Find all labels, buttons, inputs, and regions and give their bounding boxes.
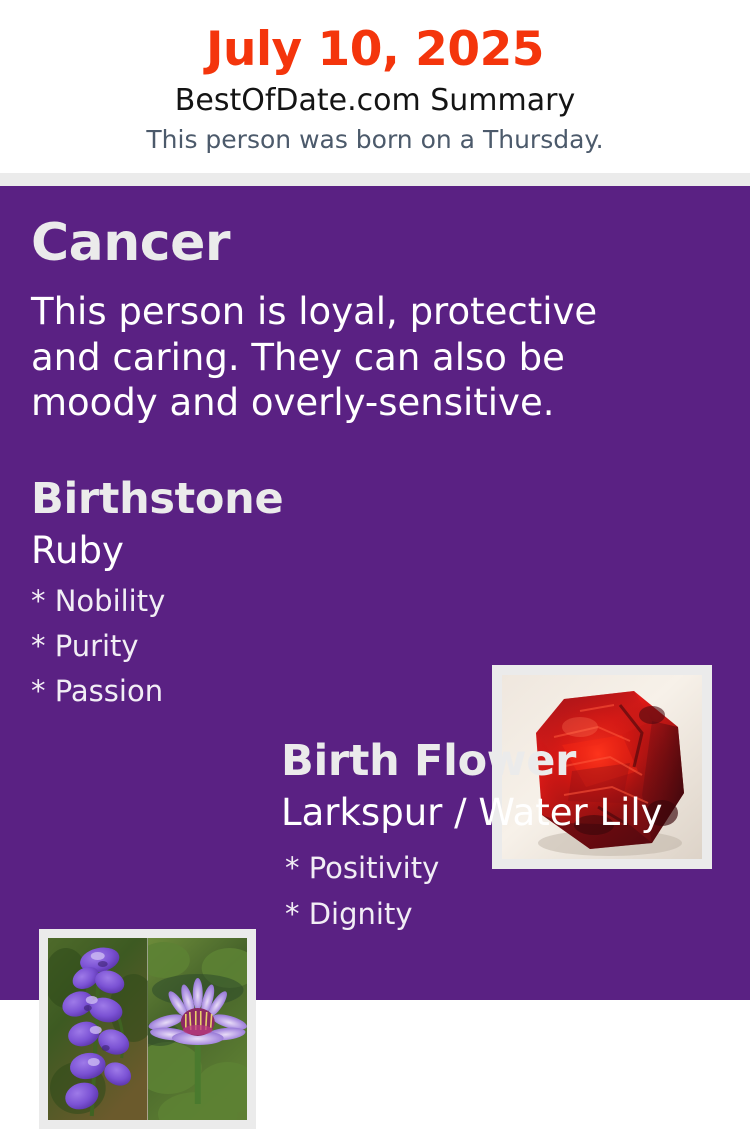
zodiac-sign-heading: Cancer bbox=[31, 217, 230, 269]
header-divider bbox=[0, 173, 750, 186]
born-weekday-text: This person was born on a Thursday. bbox=[0, 116, 750, 152]
list-item: * Dignity bbox=[285, 891, 731, 937]
list-item: * Purity bbox=[31, 624, 461, 669]
birth-flower-image-frame bbox=[39, 929, 256, 1129]
birthstone-trait-list: * Nobility * Purity * Passion bbox=[31, 569, 461, 714]
birthstone-section: Birthstone Ruby * Nobility * Purity * Pa… bbox=[31, 478, 461, 714]
zodiac-description: This person is loyal, protective and car… bbox=[31, 289, 651, 426]
birth-flower-image bbox=[48, 938, 247, 1120]
birth-flower-trait-list: * Positivity * Dignity bbox=[281, 831, 731, 938]
list-item: * Positivity bbox=[285, 845, 731, 891]
details-panel: Cancer This person is loyal, protective … bbox=[0, 186, 750, 1000]
card-header: July 10, 2025 BestOfDate.com Summary Thi… bbox=[0, 0, 750, 173]
larkspur-flower-icon bbox=[48, 938, 148, 1120]
birth-flower-heading: Birth Flower bbox=[281, 740, 731, 783]
site-summary-label: BestOfDate.com Summary bbox=[0, 73, 750, 116]
birthstone-heading: Birthstone bbox=[31, 478, 461, 521]
water-lily-flower-icon bbox=[148, 938, 248, 1120]
summary-card: July 10, 2025 BestOfDate.com Summary Thi… bbox=[0, 0, 750, 1000]
page-title: July 10, 2025 bbox=[0, 0, 750, 73]
list-item: * Nobility bbox=[31, 579, 461, 624]
birth-flower-value: Larkspur / Water Lily bbox=[281, 783, 731, 831]
birth-flower-section: Birth Flower Larkspur / Water Lily * Pos… bbox=[281, 740, 731, 938]
list-item: * Passion bbox=[31, 669, 461, 714]
birthstone-value: Ruby bbox=[31, 521, 461, 569]
